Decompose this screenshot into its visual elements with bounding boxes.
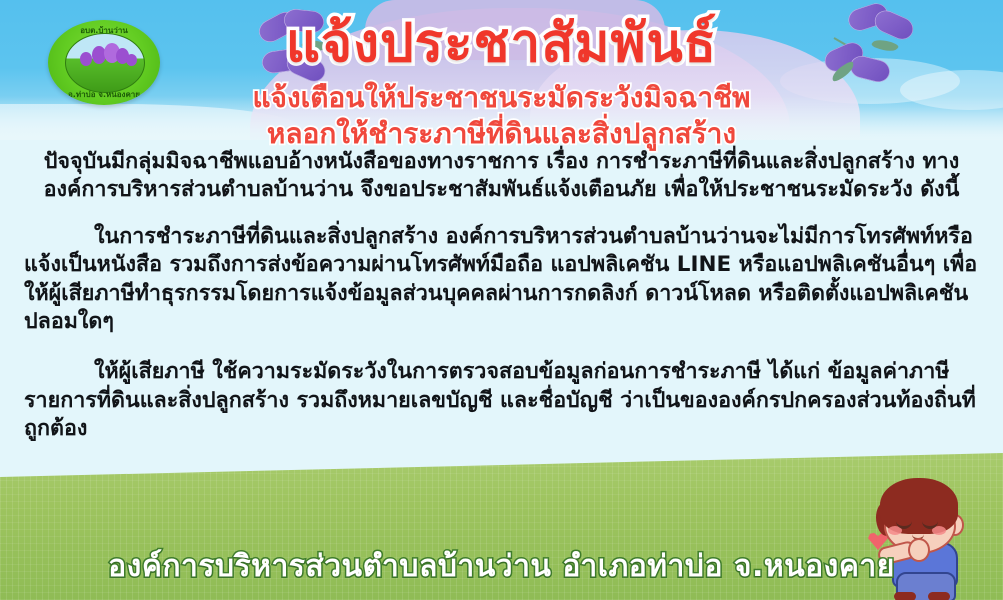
paragraph-2: ในการชำระภาษีที่ดินและสิ่งปลูกสร้าง องค์… <box>24 223 979 337</box>
mascot-shoe <box>894 592 916 600</box>
poster-subtitle-line-1: แจ้งเตือนให้ประชาชนระมัดระวังมิจฉาชีพ <box>0 80 1003 116</box>
poster-body: ปัจจุบันมีกลุ่มมิจฉาชีพแอบอ้างหนังสือของ… <box>24 148 979 453</box>
poster-footer: องค์การบริหารส่วนตำบลบ้านว่าน อำเภอท่าบ่… <box>108 543 895 590</box>
poster-title: แจ้งประชาสัมพันธ์ <box>286 16 717 72</box>
poster-footer-container: องค์การบริหารส่วนตำบลบ้านว่าน อำเภอท่าบ่… <box>0 543 1003 590</box>
poster-title-container: แจ้งประชาสัมพันธ์ <box>0 16 1003 72</box>
poster-subtitle-line-2: หลอกให้ชำระภาษีที่ดินและสิ่งปลูกสร้าง <box>0 116 1003 152</box>
poster-subtitle-container: แจ้งเตือนให้ประชาชนระมัดระวังมิจฉาชีพ หล… <box>0 80 1003 152</box>
mascot-shoe <box>928 592 950 600</box>
paragraph-1: ปัจจุบันมีกลุ่มมิจฉาชีพแอบอ้างหนังสือของ… <box>24 148 979 205</box>
announcement-poster: อบต.บ้านว่าน อ.ท่าบ่อ จ.หนองคาย แจ้งประช… <box>0 0 1003 600</box>
paragraph-3: ให้ผู้เสียภาษี ใช้ความระมัดระวังในการตรว… <box>24 358 979 443</box>
